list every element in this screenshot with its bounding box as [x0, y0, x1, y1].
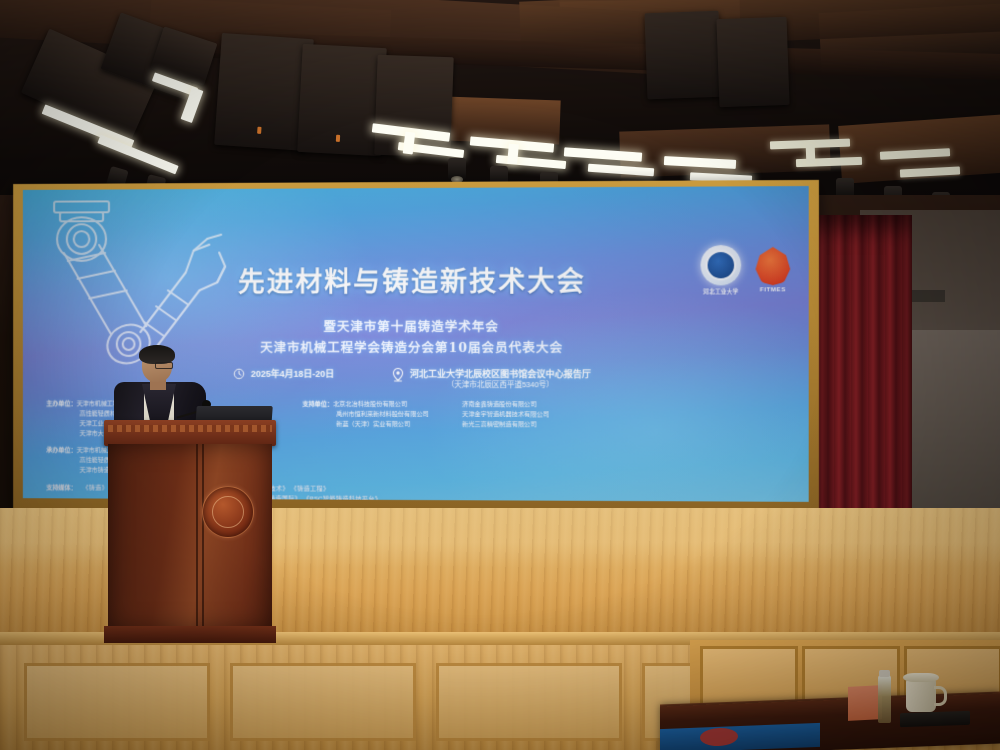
supporting-units-label: 支持单位：	[302, 401, 333, 408]
conference-location-text: 河北工业大学北辰校区图书馆会议中心报告厅 （天津市北辰区西平道5340号）	[410, 368, 591, 391]
co-organizer-label: 承办单位：	[46, 447, 76, 454]
teacup-lid	[903, 673, 939, 682]
line-array-speaker	[645, 11, 722, 100]
podium-base	[104, 626, 276, 643]
media-title: 《PSC智能铸造科技平台》	[303, 496, 381, 502]
podium-carved-trim	[108, 425, 272, 432]
fluorescent-panel-light	[806, 144, 816, 164]
venue-line-2: （天津市北辰区西平道5340号）	[410, 380, 591, 390]
par-can-light	[448, 158, 466, 180]
lidded-teacup	[906, 679, 936, 712]
dark-device	[900, 711, 970, 727]
supporting-media-label: 支持媒体：	[46, 484, 76, 502]
water-bottle	[878, 675, 891, 723]
podium-top	[104, 420, 276, 446]
conference-subtitle-1: 暨天津市第十届铸造学术年会	[23, 316, 809, 336]
conference-date: 2025年4月18日-20日	[233, 368, 334, 380]
supporting-unit: 新蓝（天津）实业有限公司	[302, 420, 452, 430]
supporting-unit: 新光三高精密制造有限公司	[462, 420, 613, 430]
location-pin-icon	[392, 368, 404, 382]
stage-front-inset	[230, 663, 416, 741]
supporting-unit: 禹州市恒利来新材料股份有限公司	[302, 410, 452, 420]
supporting-unit: 济南金鑫铸造股份有限公司	[462, 400, 613, 410]
clock-icon	[233, 368, 245, 380]
water-bottle-cap	[879, 670, 890, 677]
organizer-label: 主办单位：	[46, 400, 76, 407]
podium-seam	[202, 444, 204, 630]
university-seal-emblem	[202, 486, 254, 538]
podium-body	[108, 444, 272, 630]
conference-title: 先进材料与铸造新技术大会	[23, 259, 809, 300]
presenter-glasses	[155, 362, 173, 369]
line-array-speaker	[716, 17, 789, 107]
wooden-podium	[104, 420, 276, 645]
conference-stage-photo: 河北工业大学 FITMES 先进材料与铸造新技术大会 暨天津市第十届铸造学术年会…	[0, 0, 1000, 750]
name-card	[848, 685, 882, 721]
supporting-unit: 北京北冶科技股份有限公司	[333, 401, 407, 408]
conference-date-text: 2025年4月18日-20日	[251, 368, 334, 380]
venue-line-1: 河北工业大学北辰校区图书馆会议中心报告厅	[410, 369, 591, 379]
teacup-handle	[934, 686, 947, 706]
line-array-speaker	[297, 44, 387, 156]
stage-front-inset	[24, 663, 210, 741]
supporting-units-column-b: 济南金鑫铸造股份有限公司 天津金宇智造机器技术有限公司 新光三高精密制造有限公司	[462, 400, 613, 477]
fluorescent-panel-light	[507, 144, 519, 165]
podium-seam	[196, 444, 198, 630]
conference-location: 河北工业大学北辰校区图书馆会议中心报告厅 （天津市北辰区西平道5340号）	[392, 368, 591, 391]
media-title: 《铸造工程》	[291, 486, 330, 493]
supporting-unit: 天津金宇智造机器技术有限公司	[462, 410, 613, 420]
supporting-units-column-a: 支持单位：北京北冶科技股份有限公司 禹州市恒利来新材料股份有限公司 新蓝（天津）…	[302, 400, 452, 477]
stage-front-inset	[436, 663, 622, 741]
